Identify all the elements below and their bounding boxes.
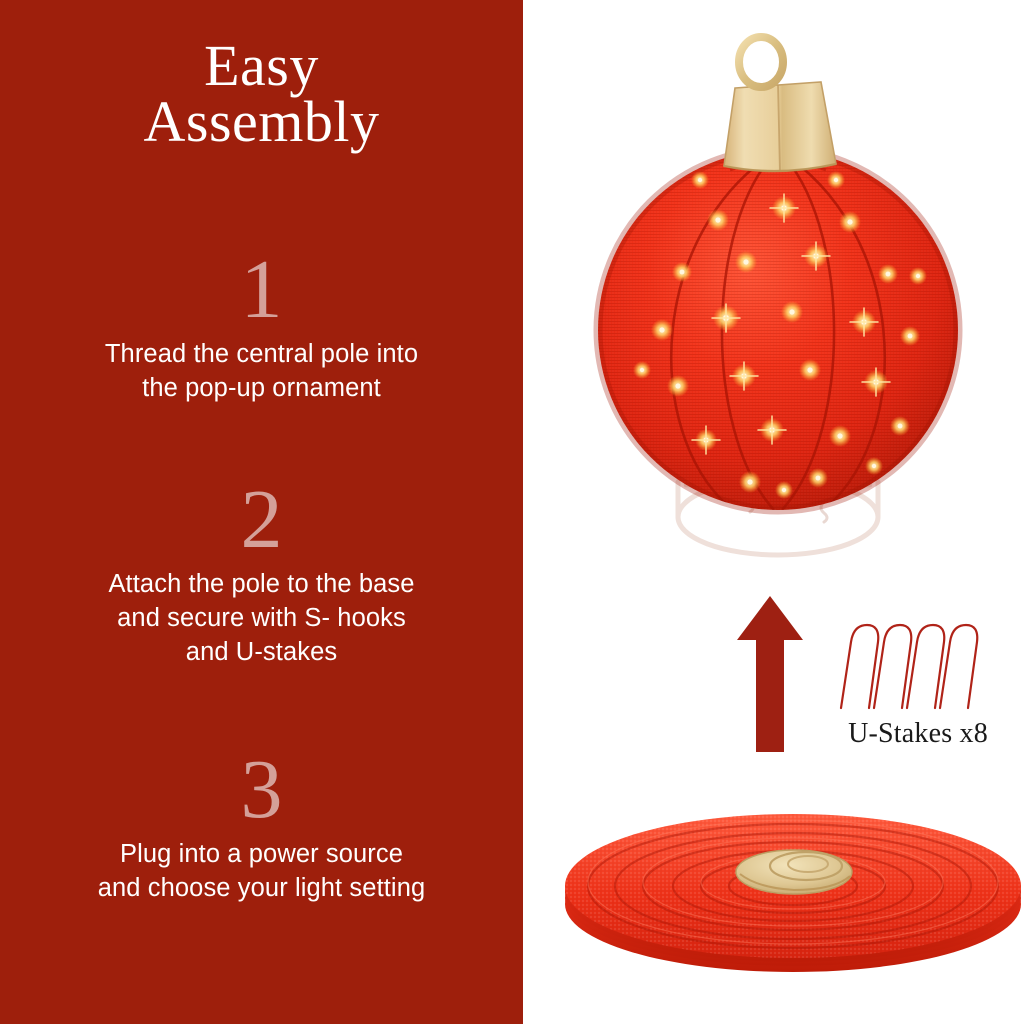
step-number-1: 1 bbox=[0, 248, 523, 332]
up-arrow-image bbox=[735, 594, 805, 754]
assembled-ornament-image bbox=[578, 30, 998, 580]
step-1-line-2: the pop-up ornament bbox=[36, 372, 487, 406]
collapsed-ornament-image bbox=[558, 800, 1024, 985]
ornament-hanging-loop-icon bbox=[739, 37, 783, 87]
assembly-step-1: 1 Thread the central pole into the pop-u… bbox=[0, 248, 523, 406]
assembly-step-2: 2 Attach the pole to the base and secure… bbox=[0, 478, 523, 670]
step-text-1: Thread the central pole into the pop-up … bbox=[0, 338, 523, 406]
step-2-line-1: Attach the pole to the base bbox=[36, 568, 487, 602]
step-number-2: 2 bbox=[0, 478, 523, 562]
up-arrow-icon bbox=[735, 594, 805, 754]
assembly-infographic: Easy Assembly 1 Thread the central pole … bbox=[0, 0, 1024, 1024]
step-1-line-1: Thread the central pole into bbox=[36, 338, 487, 372]
step-3-line-2: and choose your light setting bbox=[36, 872, 487, 906]
product-imagery-panel: U-Stakes x8 bbox=[523, 0, 1024, 1024]
step-number-3: 3 bbox=[0, 748, 523, 832]
step-2-line-2: and secure with S- hooks bbox=[36, 602, 487, 636]
lit-pop-up-ornament-on-stand-icon bbox=[578, 30, 998, 580]
u-stake-icon bbox=[823, 612, 1013, 712]
collapsed-pop-up-ornament-icon bbox=[558, 800, 1024, 985]
step-3-line-1: Plug into a power source bbox=[36, 838, 487, 872]
assembly-step-3: 3 Plug into a power source and choose yo… bbox=[0, 748, 523, 906]
page-title: Easy Assembly bbox=[0, 38, 523, 151]
instructions-panel: Easy Assembly 1 Thread the central pole … bbox=[0, 0, 523, 1024]
u-stakes-image: U-Stakes x8 bbox=[823, 612, 1013, 757]
step-text-3: Plug into a power source and choose your… bbox=[0, 838, 523, 906]
step-text-2: Attach the pole to the base and secure w… bbox=[0, 568, 523, 670]
page-title-line-1: Easy bbox=[0, 38, 523, 94]
collapsed-cap bbox=[736, 850, 852, 894]
u-stakes-caption: U-Stakes x8 bbox=[823, 720, 1013, 748]
page-title-line-2: Assembly bbox=[0, 94, 523, 150]
step-2-line-3: and U-stakes bbox=[36, 636, 487, 670]
ornament-gold-cap bbox=[724, 82, 836, 171]
